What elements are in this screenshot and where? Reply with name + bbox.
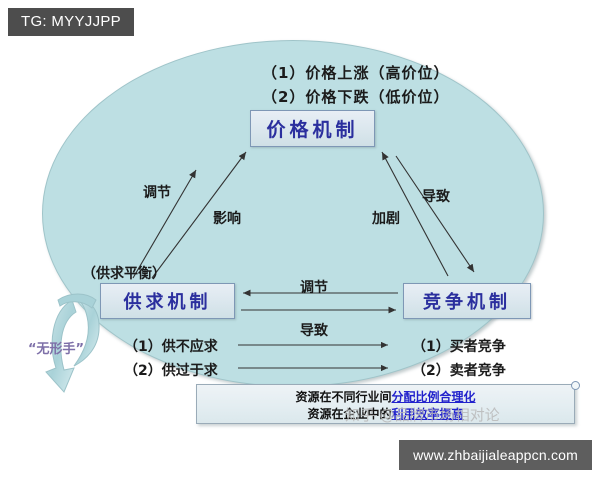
supply-state-1: （1）供不应求 xyxy=(124,336,218,356)
banner-line-2: 资源在企业中的利用效率提高 xyxy=(197,405,574,422)
edge-label-right-outer: 加剧 xyxy=(372,208,400,228)
edge-label-middle-top: 调节 xyxy=(300,277,328,297)
supply-state-2: （2）供过于求 xyxy=(124,360,218,380)
banner-line-2-prefix: 资源在企业中的 xyxy=(307,407,391,421)
url-badge: www.zhbaijialeappcn.com xyxy=(399,440,592,470)
banner-line-1: 资源在不同行业间分配比例合理化 xyxy=(197,388,574,405)
banner-line-2-highlight: 利用效率提高 xyxy=(392,407,464,421)
edge-label-left-inner: 影响 xyxy=(213,208,241,228)
edge-label-right-inner: 导致 xyxy=(422,186,450,206)
node-supply-demand-mechanism[interactable]: 供求机制 xyxy=(100,283,235,319)
banner-line-1-prefix: 资源在不同行业间 xyxy=(295,390,391,404)
node-competition-mechanism[interactable]: 竞争机制 xyxy=(403,283,531,319)
edge-label-left-outer: 调节 xyxy=(143,182,171,202)
edge-label-middle-bottom: 导致 xyxy=(300,320,328,340)
invisible-hand-label: “无形手” xyxy=(28,338,84,357)
competition-state-1: （1）买者竞争 xyxy=(412,336,506,356)
resource-allocation-banner: 资源在不同行业间分配比例合理化 资源在企业中的利用效率提高 xyxy=(196,384,575,424)
banner-line-1-highlight: 分配比例合理化 xyxy=(392,390,476,404)
arrow-price-to-competition xyxy=(396,156,474,272)
competition-state-2: （2）卖者竞争 xyxy=(412,360,506,380)
node-price-mechanism[interactable]: 价格机制 xyxy=(250,110,375,147)
equilibrium-note: （供求平衡） xyxy=(82,263,166,283)
top-note-1: （1）价格上涨（高价位） xyxy=(262,62,449,83)
diagram-canvas: （1）价格上涨（高价位） （2）价格下跌（低价位） 价格机制 供求机制 竞争机制… xyxy=(0,0,600,480)
tag-badge: TG: MYYJJPP xyxy=(8,8,134,36)
banner-handle-nub xyxy=(571,381,580,390)
top-note-2: （2）价格下跌（低价位） xyxy=(262,86,449,107)
